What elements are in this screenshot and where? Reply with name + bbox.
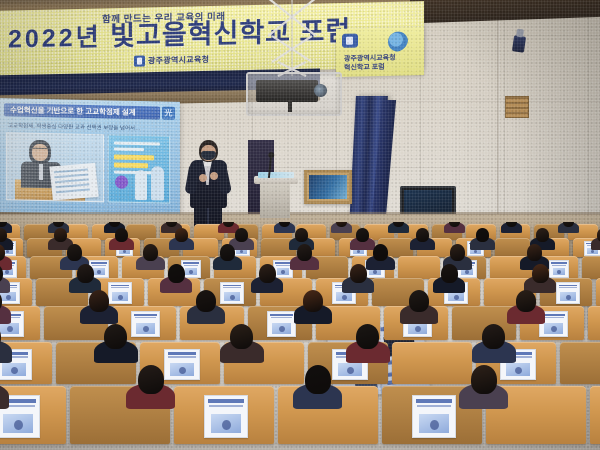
audience-member-head	[416, 228, 429, 242]
audience-member-head	[175, 228, 188, 242]
seat-distancing-flyer	[164, 349, 200, 380]
education-office-logo-icon	[134, 55, 145, 66]
side-banner-text: 광주광역시교육청 혁신학교 포럼	[344, 54, 396, 73]
ceiling-projector-icon	[256, 80, 318, 102]
glasses-icon	[32, 148, 48, 153]
audience-member-head	[77, 264, 94, 283]
audience-member-head	[476, 228, 489, 242]
wall-vent-icon	[505, 96, 529, 118]
auditorium-seat	[582, 256, 600, 279]
projector-lens-icon	[314, 84, 327, 97]
audience-member-head	[356, 324, 379, 349]
slide-lead-text: 고교학점제, 학생중심 다양한 교과 선택권 보장을 넘어서…	[8, 121, 141, 132]
seat-distancing-flyer	[549, 260, 569, 278]
stage-edge	[0, 212, 600, 215]
auditorium-seat	[596, 278, 600, 306]
seat-distancing-flyer	[556, 282, 580, 304]
auditorium-seat	[560, 342, 600, 384]
side-banner: 광주광역시교육청 혁신학교 포럼	[336, 27, 424, 77]
poster-figure-1	[135, 170, 147, 200]
slide-photo-document	[49, 163, 98, 201]
lectern	[254, 176, 298, 218]
banner-organizer-logo: 광주광역시교육청	[134, 54, 209, 67]
slide-photo-tie	[39, 164, 43, 180]
audience-member-head	[67, 244, 82, 261]
framed-artwork	[304, 170, 352, 204]
audience-member-head	[138, 365, 164, 394]
audience-member-head	[295, 228, 308, 242]
auditorium-seat	[392, 342, 472, 384]
lectern-items	[258, 172, 294, 178]
audience-member-head	[532, 264, 549, 283]
lectern-body	[260, 184, 290, 218]
audience-member-head	[409, 290, 429, 312]
presenter-hand-left	[199, 174, 207, 182]
audience-member-head	[450, 244, 465, 261]
poster-badge-icon	[115, 176, 128, 189]
auditorium-seat	[398, 256, 440, 279]
audience-member-head	[305, 365, 331, 394]
audience-member-head	[471, 365, 497, 394]
audience-member-head	[196, 290, 216, 312]
slide-poster	[108, 134, 170, 203]
audience-member-head	[104, 324, 127, 349]
audience-member-head	[373, 244, 388, 261]
audience-member-head	[303, 290, 323, 312]
slide-badge-icon: 光	[162, 107, 175, 120]
audience-member-head	[441, 264, 458, 283]
audience-member-head	[89, 290, 109, 312]
projector-arm	[288, 100, 292, 112]
auditorium-seat	[590, 386, 600, 444]
seat-distancing-flyer	[131, 311, 160, 337]
audience-member-head	[235, 228, 248, 242]
banner-organizer-text: 광주광역시교육청	[148, 54, 209, 66]
audience-member-head	[54, 228, 67, 242]
audience-member-head	[220, 244, 235, 261]
audience-member-head	[259, 264, 276, 283]
audience-member-head	[168, 264, 185, 283]
audience-seating	[0, 222, 600, 450]
audience-member-head	[356, 228, 369, 242]
auditorium-seat	[495, 238, 530, 257]
side-banner-line2: 혁신학교 포럼	[344, 63, 396, 73]
seat-distancing-flyer	[204, 395, 248, 438]
audience-member-head	[230, 324, 253, 349]
audience-member-head	[482, 324, 505, 349]
audience-member-head	[527, 244, 542, 261]
banner-year: 2022년	[8, 23, 102, 53]
artwork-canvas	[309, 175, 347, 199]
seat-distancing-flyer	[220, 282, 244, 304]
audience-member-head	[516, 290, 536, 312]
seat-distancing-flyer	[108, 282, 132, 304]
auditorium-seat	[588, 306, 600, 340]
audience-member-head	[350, 264, 367, 283]
audience-member-head	[297, 244, 312, 261]
seat-distancing-flyer	[412, 395, 456, 438]
audience-member-head	[536, 228, 549, 242]
auditorium-photo: 함께 만드는 우리 교육의 미래 2022년 빛고을혁신학교 포럼 광주광역시교…	[0, 0, 600, 450]
slide-photo	[6, 132, 104, 202]
wall-speaker-icon	[512, 35, 526, 53]
presenter-hand-right	[210, 172, 218, 180]
projection-screen: 수업혁신을 기반으로 한 고교학점제 설계 光 고교학점제, 학생중심 다양한 …	[0, 98, 180, 218]
slide-title: 수업혁신을 기반으로 한 고교학점제 설계	[4, 103, 160, 119]
audience-member-head	[115, 228, 128, 242]
side-banner-emblem-icon	[388, 31, 408, 51]
audience-member-head	[143, 244, 158, 261]
seat-distancing-flyer	[267, 311, 296, 337]
poster-figure-2	[151, 166, 164, 200]
